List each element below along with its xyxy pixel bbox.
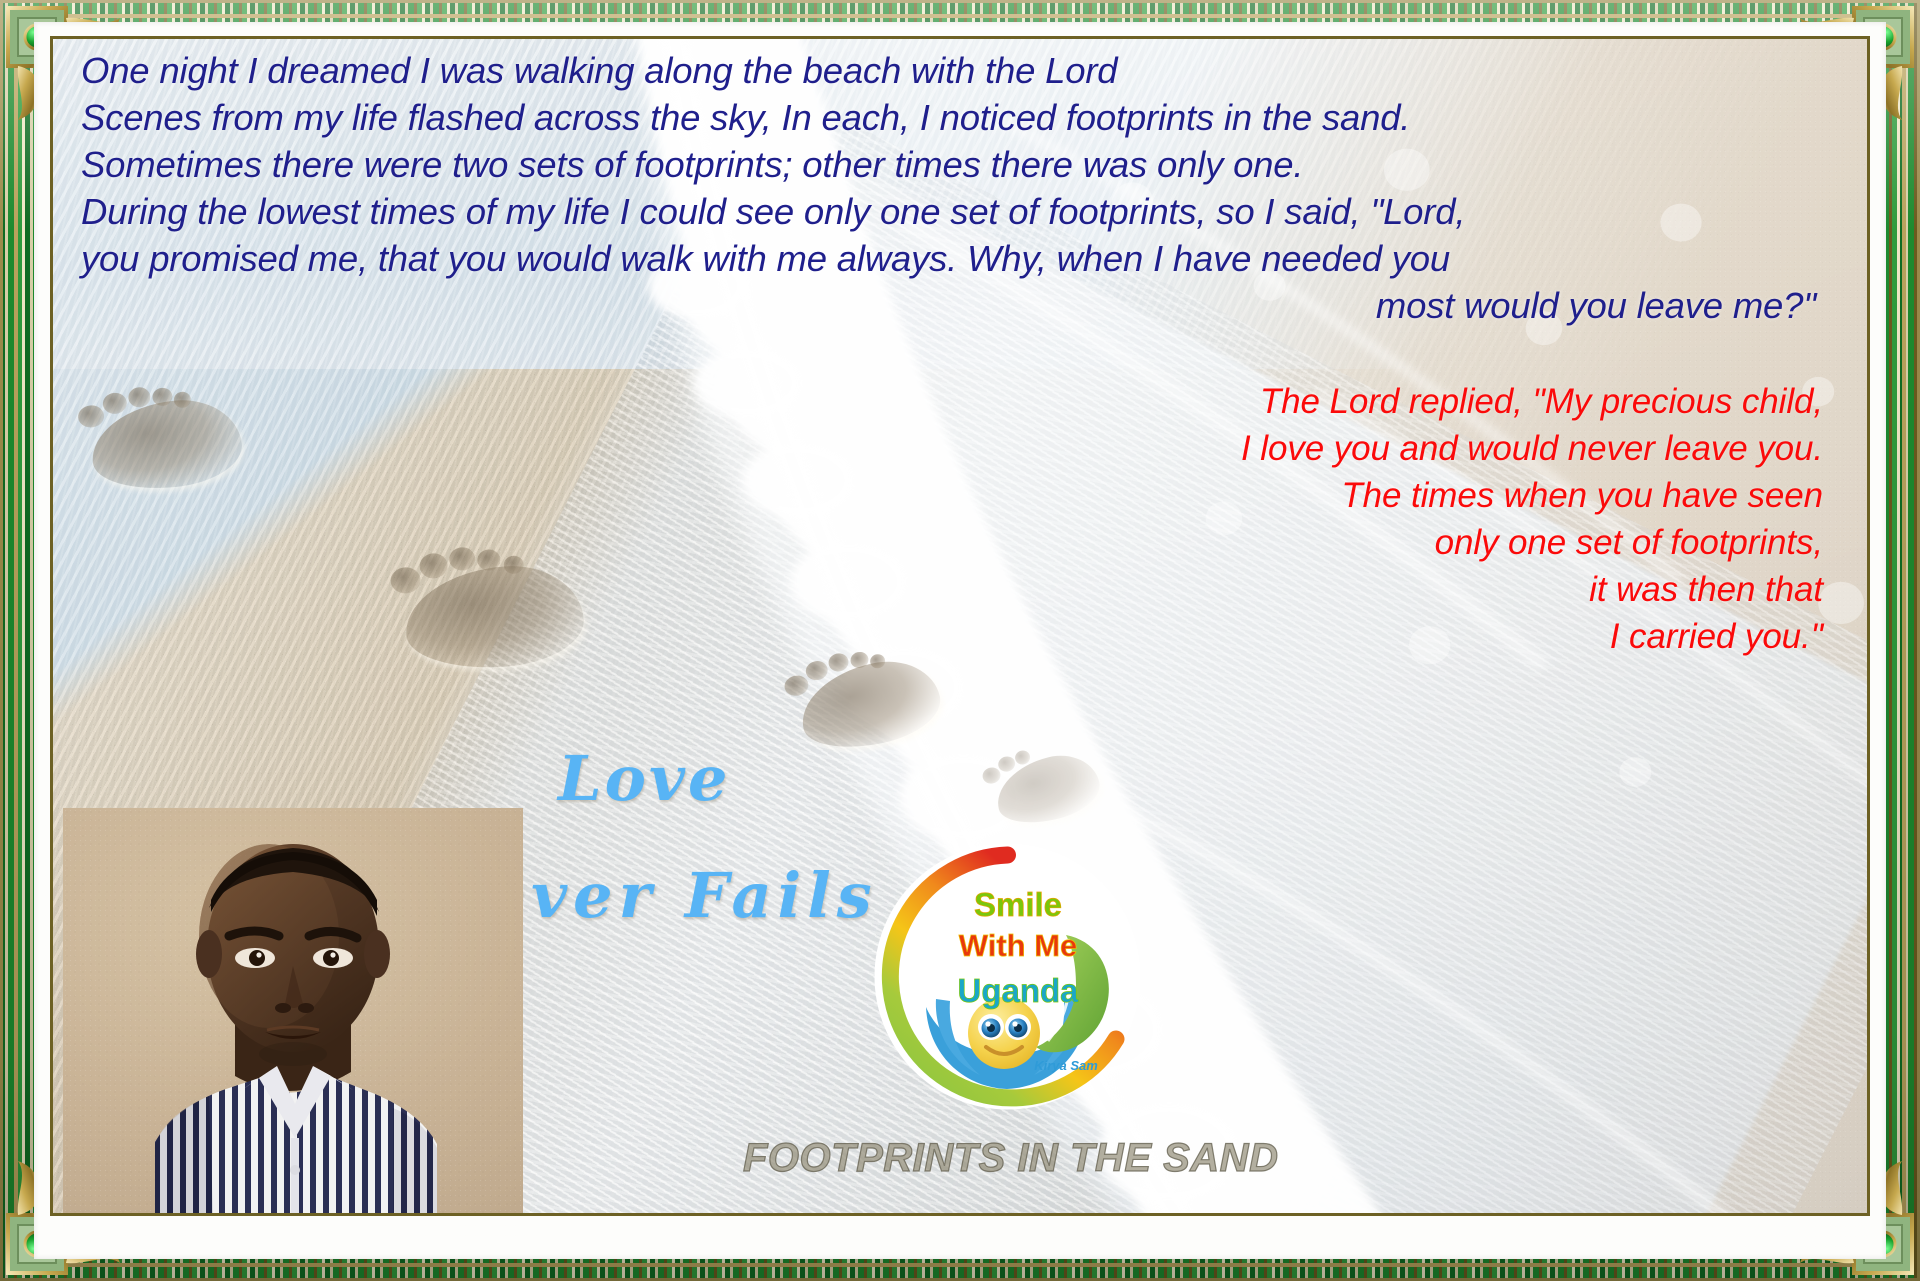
verse-line: you promised me, that you would walk wit… <box>81 235 1816 282</box>
verse-line: I love you and would never leave you. <box>1241 425 1823 472</box>
logo-signature: Kirya Sam <box>1034 1058 1098 1073</box>
verse-line: One night I dreamed I was walking along … <box>81 47 1816 94</box>
verse-line: The Lord replied, "My precious child, <box>1241 378 1823 425</box>
verse-narrator: One night I dreamed I was walking along … <box>81 47 1816 329</box>
author-photo <box>63 808 523 1213</box>
script-art-love: Love <box>558 742 730 815</box>
author-portrait-illustration <box>63 808 523 1213</box>
verse-line: it was then that <box>1241 566 1823 613</box>
verse-line: Scenes from my life flashed across the s… <box>81 94 1816 141</box>
logo-line-uganda: Uganda <box>957 972 1079 1009</box>
verse-line: only one set of footprints, <box>1241 519 1823 566</box>
logo-line-with-me: With Me <box>959 928 1078 963</box>
photo-caption: FOOTPRINTS IN THE SAND <box>743 1136 1278 1181</box>
smile-with-me-uganda-logo[interactable]: Smile With Me Uganda Kirya Sam <box>870 839 1145 1114</box>
poster-root: One night I dreamed I was walking along … <box>0 0 1920 1281</box>
verse-line: Sometimes there were two sets of footpri… <box>81 141 1816 188</box>
verse-line: The times when you have seen <box>1241 472 1823 519</box>
verse-line: I carried you." <box>1241 613 1823 660</box>
verse-lord-reply: The Lord replied, "My precious child, I … <box>1241 378 1823 660</box>
beach-photo: One night I dreamed I was walking along … <box>50 36 1870 1216</box>
verse-line: most would you leave me?" <box>81 282 1816 329</box>
logo-line-smile: Smile <box>974 886 1062 923</box>
verse-line: During the lowest times of my life I cou… <box>81 188 1816 235</box>
